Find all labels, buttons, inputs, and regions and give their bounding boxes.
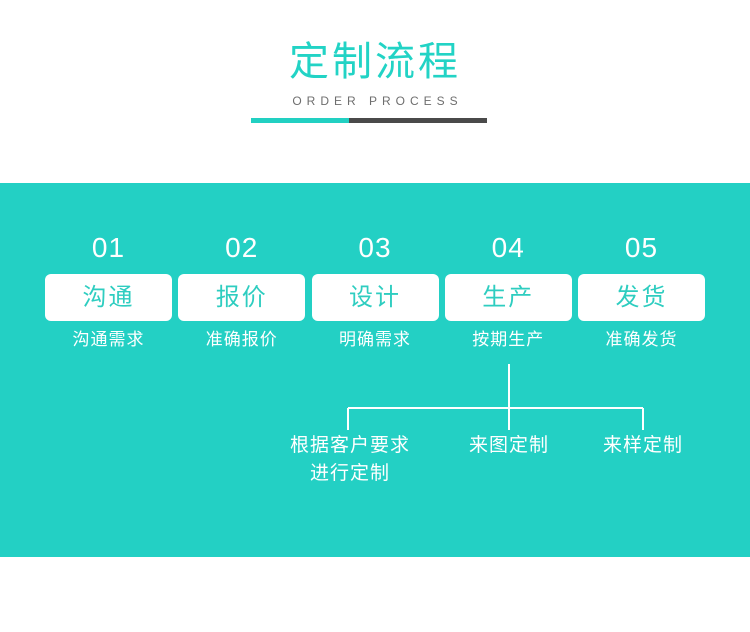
step-box-label: 报价 bbox=[216, 284, 268, 312]
step-caption: 沟通需求 bbox=[45, 328, 172, 351]
custom-option-by-requirements[interactable]: 根据客户要求 进行定制 bbox=[250, 432, 450, 488]
step-box[interactable]: 发货 bbox=[578, 274, 705, 321]
process-step-04[interactable]: 04 生产 按期生产 bbox=[445, 231, 572, 351]
step-caption: 准确报价 bbox=[178, 328, 305, 351]
process-step-03[interactable]: 03 设计 明确需求 bbox=[312, 231, 439, 351]
step-caption: 准确发货 bbox=[578, 328, 705, 351]
step-number: 02 bbox=[178, 231, 305, 265]
page-subtitle: ORDER PROCESS bbox=[0, 93, 750, 109]
page-title: 定制流程 bbox=[0, 38, 750, 86]
custom-option-by-sample[interactable]: 来样定制 bbox=[568, 432, 718, 460]
process-steps-row: 01 沟通 沟通需求 02 报价 准确报价 03 设计 明确需求 04 生产 bbox=[45, 231, 705, 351]
step-box-label: 沟通 bbox=[83, 284, 135, 312]
step-box-label: 设计 bbox=[349, 284, 401, 312]
step-box[interactable]: 报价 bbox=[178, 274, 305, 321]
step-number: 03 bbox=[312, 231, 439, 265]
page-footer-spacer bbox=[0, 557, 750, 632]
step-number: 05 bbox=[578, 231, 705, 265]
step-box-label: 生产 bbox=[482, 284, 534, 312]
process-step-01[interactable]: 01 沟通 沟通需求 bbox=[45, 231, 172, 351]
process-panel: 01 沟通 沟通需求 02 报价 准确报价 03 设计 明确需求 04 生产 bbox=[0, 183, 750, 557]
step-box[interactable]: 沟通 bbox=[45, 274, 172, 321]
bracket-lines bbox=[348, 364, 643, 430]
step-box-label: 发货 bbox=[616, 284, 668, 312]
step-caption: 按期生产 bbox=[445, 328, 572, 351]
title-underline-rule bbox=[251, 118, 487, 123]
custom-options-row: 根据客户要求 进行定制 来图定制 来样定制 bbox=[0, 432, 750, 522]
process-step-05[interactable]: 05 发货 准确发货 bbox=[578, 231, 705, 351]
step-number: 04 bbox=[445, 231, 572, 265]
step-caption: 明确需求 bbox=[312, 328, 439, 351]
rule-segment-dark bbox=[349, 118, 487, 123]
step-number: 01 bbox=[45, 231, 172, 265]
page-header: 定制流程 ORDER PROCESS bbox=[0, 0, 750, 183]
step-box[interactable]: 生产 bbox=[445, 274, 572, 321]
custom-option-by-drawing[interactable]: 来图定制 bbox=[434, 432, 584, 460]
step-box[interactable]: 设计 bbox=[312, 274, 439, 321]
rule-segment-accent bbox=[251, 118, 349, 123]
process-step-02[interactable]: 02 报价 准确报价 bbox=[178, 231, 305, 351]
